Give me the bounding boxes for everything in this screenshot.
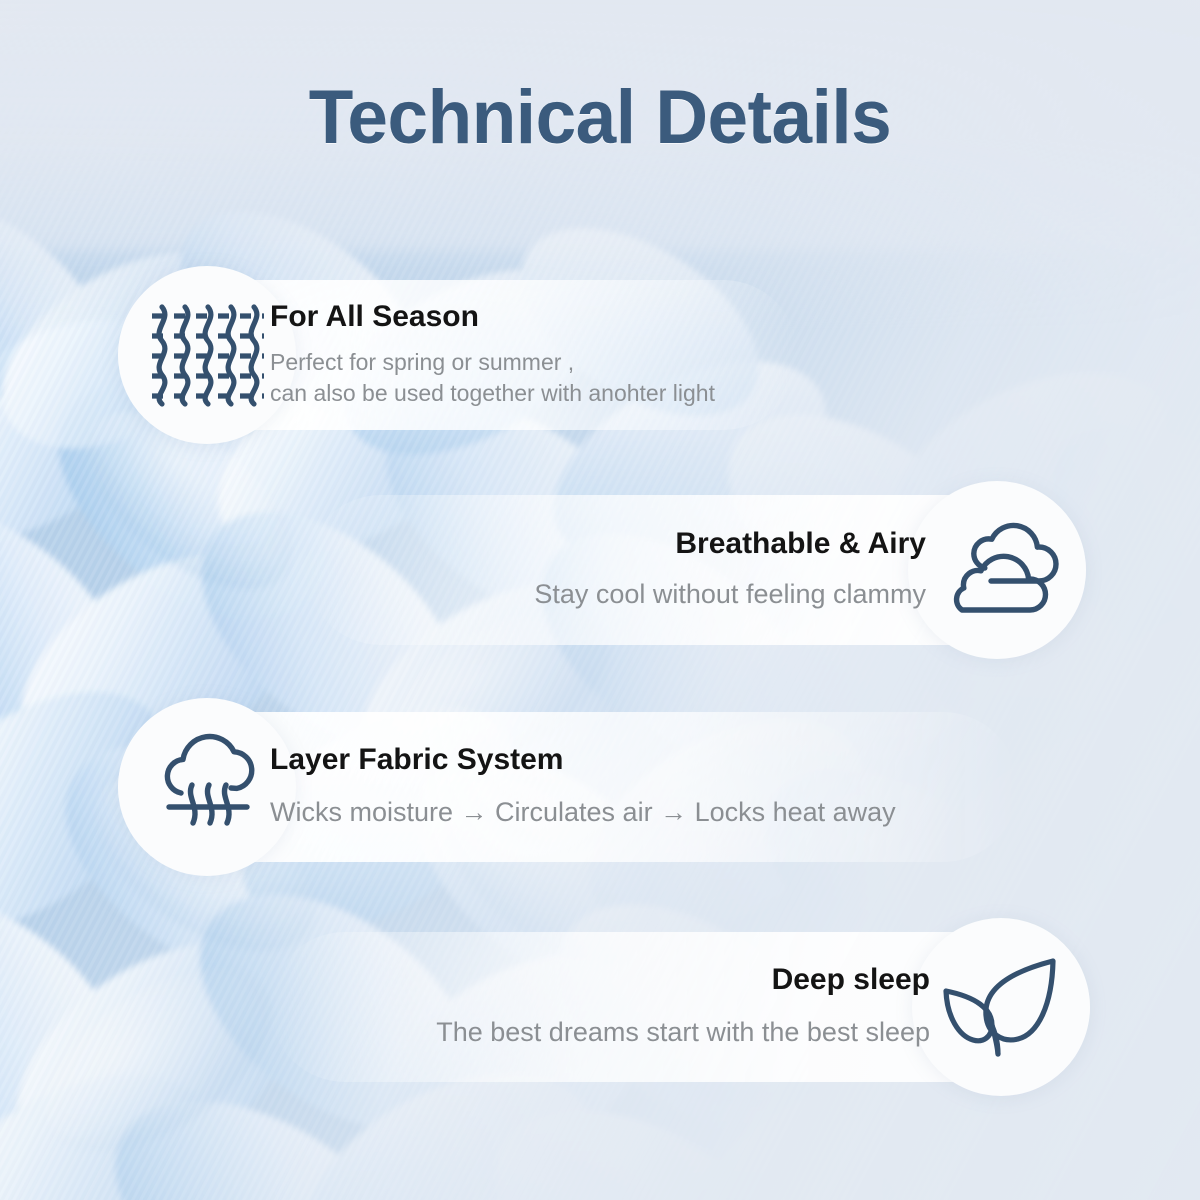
feature-title: Deep sleep (772, 963, 930, 998)
page-title: Technical Details (24, 74, 1176, 161)
feature-card-breathable-and-airy: Breathable & Airy Stay cool without feel… (306, 495, 1086, 645)
leaf-sprout-icon (912, 918, 1090, 1096)
feature-title: For All Season (270, 300, 479, 335)
feature-title: Layer Fabric System (270, 743, 563, 778)
feature-text-block: Layer Fabric System Wicks moisture → Cir… (270, 712, 1010, 862)
feature-card-for-all-season: For All Season Perfect for spring or sum… (118, 280, 798, 430)
feature-card-deep-sleep: Deep sleep The best dreams start with th… (270, 932, 1090, 1082)
feature-subtitle: Perfect for spring or summer , can also … (270, 347, 715, 410)
feature-subtitle: Stay cool without feeling clammy (534, 576, 926, 613)
feature-text-block: Breathable & Airy Stay cool without feel… (316, 495, 926, 645)
infographic-stage: Technical Details (0, 0, 1200, 1200)
feature-card-layer-fabric-system: Layer Fabric System Wicks moisture → Cir… (118, 712, 1018, 862)
feature-text-block: For All Season Perfect for spring or sum… (270, 280, 790, 430)
feature-subtitle: Wicks moisture → Circulates air → Locks … (270, 794, 896, 831)
feature-title: Breathable & Airy (675, 527, 926, 562)
feature-subtitle: The best dreams start with the best slee… (436, 1014, 930, 1051)
clouds-icon (908, 481, 1086, 659)
feature-text-block: Deep sleep The best dreams start with th… (280, 932, 930, 1082)
